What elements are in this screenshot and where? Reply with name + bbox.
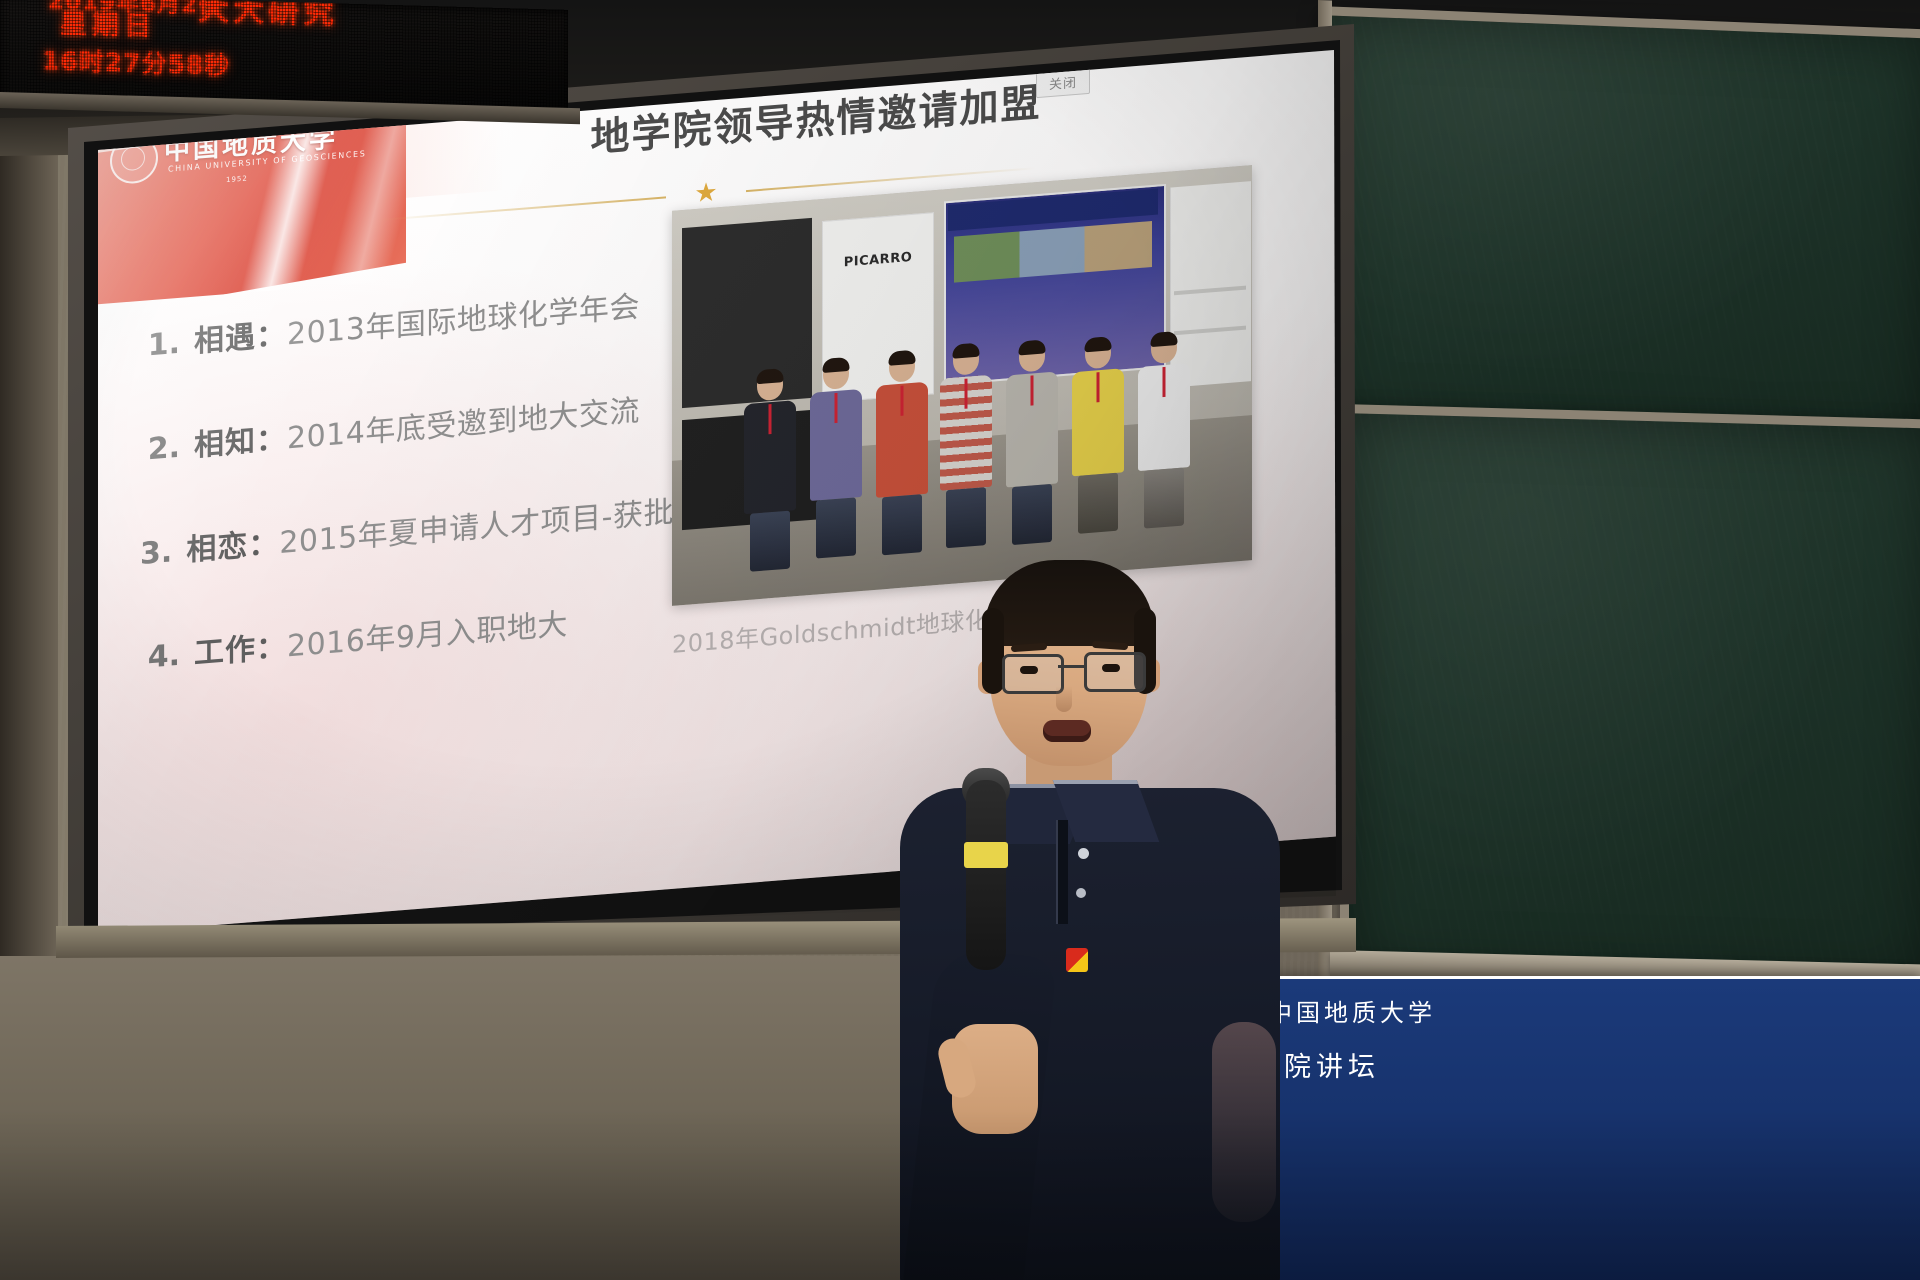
speaker-hair-side-left [982,608,1004,694]
speaker-glasses-right-lens [1084,652,1146,692]
list-item: 3. 相恋 ： 2015年夏申请人才项目-获批 [134,487,674,574]
photo-person-hair [1019,339,1046,355]
bullet-separator: ： [248,518,279,564]
speaker-hair [984,560,1154,646]
bullet-number: 3. [134,533,186,572]
photo-person-hair [823,357,850,373]
photo-person-body [1006,371,1058,487]
photo-person-body [744,400,796,514]
photo-person [810,357,862,559]
star-icon: ★ [692,178,720,208]
blackboard-upper-right [1318,6,1920,458]
bullet-number: 4. [134,637,194,677]
bullet-value: 2015年夏申请人才项目-获批 [279,487,674,562]
blackboard-right [1340,404,1920,998]
microphone-label-band [964,842,1008,868]
photo-person [1072,336,1124,534]
photo-person-lanyard [965,379,968,409]
speaker-lapel-pin [1066,948,1088,972]
photo-person-head [823,358,849,390]
speaker-shirt-button [1078,848,1089,859]
photo-person-body [810,389,862,501]
speaker-glasses-bridge [1058,665,1084,668]
photo-person-lanyard [1031,375,1034,405]
photo-person-head [889,351,915,383]
photo-person-body [1138,363,1190,471]
photo-person-lanyard [901,386,904,416]
photo-person-hair [1151,331,1178,347]
speaker-shirt-placket [1056,820,1068,924]
speaker-mouth [1043,720,1091,742]
photo-person-hair [1085,336,1112,352]
photo-person-body [876,382,928,498]
bullet-separator: ： [256,413,287,459]
list-item: 4. 工作 ： 2016年9月入职地大 [134,591,674,678]
divider-line-left [376,196,666,221]
bullet-value: 2016年9月入职地大 [287,599,568,665]
speaker-shirt-highlight [1212,1022,1276,1222]
bullet-list: 1. 相遇 ： 2013年国际地球化学年会 2. 相知 ： 2014年底受邀到地… [134,279,674,738]
list-item: 2. 相知 ： 2014年底受邀到地大交流 [134,383,674,470]
bullet-value: 2014年底受邀到地大交流 [287,385,640,457]
speaker-nose [1056,686,1072,712]
photo-person-head [1085,337,1111,369]
speaker-glasses-left-lens [1002,654,1064,694]
bullet-keyword: 工作 [194,624,256,673]
photo-person-hair [953,343,980,359]
speaker-shirt-button [1076,888,1086,898]
bullet-value: 2013年国际地球化学年会 [287,281,640,353]
photo-person-hair [757,368,784,384]
photo-person-head [757,369,783,401]
led-weekday-text: 星期日 [60,2,156,44]
photo-person-legs [1012,484,1052,545]
bullet-keyword: 相知 [194,416,256,465]
speaker-eye-right [1102,664,1120,672]
photo-person-body [1072,368,1124,476]
bullet-separator: ： [256,309,287,355]
photo-person-lanyard [1097,372,1100,402]
photo-person-legs [882,494,922,555]
photo-person [940,343,992,549]
photo-person-head [1019,340,1045,372]
photo-person [744,368,796,572]
photo-person [876,350,928,556]
bullet-number: 1. [134,325,194,365]
led-headline-text: 大大研究 [198,0,338,32]
photo-person-body [940,375,992,491]
led-time-text: 16时27分58秒 [42,41,230,82]
speaker-eye-left [1020,666,1038,674]
photo-person-lanyard [835,393,838,423]
group-photo: PICARRO [672,165,1252,606]
photo-person-legs [1144,467,1184,528]
photo-person-hair [889,350,916,366]
photo-person-legs [816,497,856,558]
speaker-person [880,552,1300,1280]
bullet-number: 2. [134,429,194,469]
bullet-keyword: 相恋 [186,520,248,569]
photo-person-legs [1078,473,1118,534]
photo-person [1138,331,1190,529]
bullet-keyword: 相遇 [194,312,256,361]
podium-banner: 中国地质大学 地学院讲坛 [1196,976,1920,1280]
microphone [966,780,1006,970]
photo-person [1006,339,1058,545]
photo-person-lanyard [769,404,772,434]
photo-person-legs [946,487,986,548]
photo-person-lanyard [1163,367,1166,397]
lecture-hall-scene: 中国地质大学 CHINA UNIVERSITY OF GEOSCIENCES 1… [0,0,1920,1280]
photo-person-head [953,344,979,376]
bullet-separator: ： [256,621,287,667]
photo-person-head [1151,332,1177,364]
photo-person-legs [750,511,790,572]
